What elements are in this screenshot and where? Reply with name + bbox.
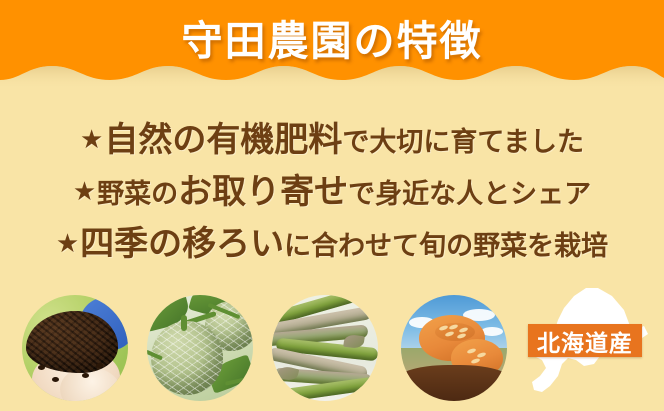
feature-3-rest: に合わせて旬の野菜を栽培 [284, 224, 608, 263]
photo-compost-soil-in-hands [22, 295, 128, 401]
photo-cut-cantaloupe [401, 295, 507, 401]
feature-2-emphasis-prefix: 野菜の [97, 172, 178, 211]
feature-line-1: ★ 自然の有機肥料 で大切に育てました [0, 112, 664, 164]
star-icon: ★ [73, 179, 96, 205]
page-title: 守田農園の特徴 [0, 14, 664, 68]
header-band: 守田農園の特徴 [0, 0, 664, 104]
feature-1-rest: で大切に育てました [342, 120, 584, 159]
feature-2-emphasis: お取り寄せ [178, 164, 348, 213]
star-icon: ★ [56, 231, 79, 257]
photo-green-melon-on-vine [147, 295, 253, 401]
photo-asparagus-spears [272, 295, 378, 401]
origin-badge: 北海道産 [520, 286, 652, 406]
feature-list: ★ 自然の有機肥料 で大切に育てました ★ 野菜の お取り寄せ で身近な人とシェ… [0, 112, 664, 268]
star-icon: ★ [80, 127, 103, 153]
promo-banner: 守田農園の特徴 ★ 自然の有機肥料 で大切に育てました ★ 野菜の お取り寄せ … [0, 0, 664, 411]
wave-divider [0, 64, 664, 104]
feature-line-2: ★ 野菜の お取り寄せ で身近な人とシェア [0, 164, 664, 216]
feature-2-rest: で身近な人とシェア [348, 172, 591, 211]
feature-line-3: ★ 四季の移ろい に合わせて旬の野菜を栽培 [0, 216, 664, 268]
feature-3-emphasis: 四季の移ろい [80, 216, 284, 265]
feature-1-emphasis: 自然の有機肥料 [104, 112, 342, 161]
origin-badge-box: 北海道産 [528, 324, 642, 357]
origin-badge-label: 北海道産 [537, 324, 633, 358]
